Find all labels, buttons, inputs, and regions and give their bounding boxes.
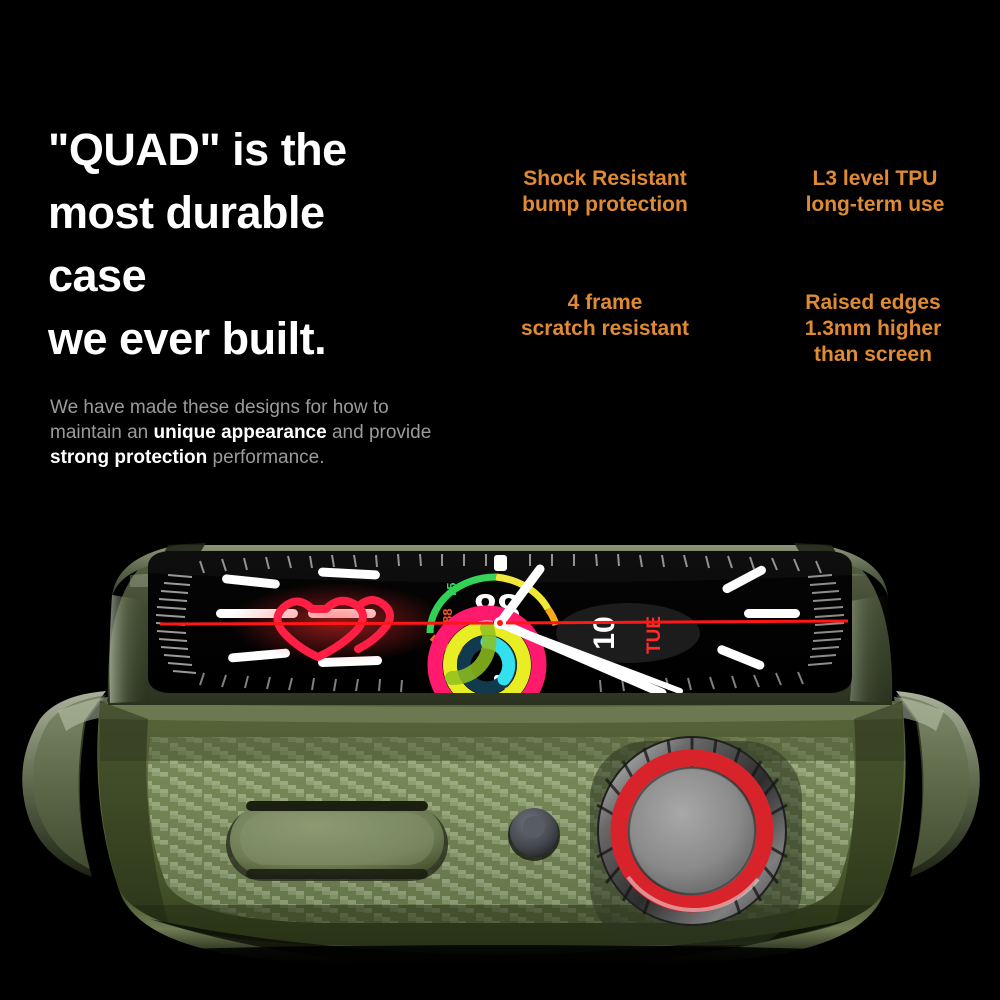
feature-line: Shock Resistant: [475, 166, 735, 192]
side-button[interactable]: [226, 801, 448, 881]
subtitle-highlight-1: unique appearance: [154, 422, 327, 443]
feature-line: long-term use: [750, 192, 1000, 218]
headline-line-4: we ever built.: [48, 307, 468, 370]
subtitle-text-3: performance.: [207, 447, 324, 468]
product-marketing-image: "QUAD" is the most durable case we ever …: [0, 0, 1000, 1000]
feature-label-scratch-resistant: 4 frame scratch resistant: [475, 290, 735, 342]
feature-line: than screen: [748, 342, 998, 368]
headline-line-2: most durable: [48, 181, 468, 244]
watch-screen: 88 75 88 10: [148, 551, 852, 717]
subtitle-text-2: and provide: [327, 422, 432, 443]
feature-line: 4 frame: [475, 290, 735, 316]
feature-line: bump protection: [475, 192, 735, 218]
headline-line-1: "QUAD" is the: [48, 118, 468, 181]
subtitle-highlight-2: strong protection: [50, 447, 207, 468]
feature-label-shock-resistant: Shock Resistant bump protection: [475, 166, 735, 218]
case-left-lug: [22, 691, 108, 877]
feature-line: 1.3mm higher: [748, 316, 998, 342]
feature-line: Raised edges: [748, 290, 998, 316]
headline-line-3: case: [48, 244, 468, 307]
svg-text:75: 75: [444, 583, 459, 597]
feature-label-l3-tpu: L3 level TPU long-term use: [750, 166, 1000, 218]
digital-crown[interactable]: [590, 736, 802, 945]
feature-label-raised-edges: Raised edges 1.3mm higher than screen: [748, 290, 998, 368]
product-photo-smartwatch-case: 88 75 88 10: [0, 505, 1000, 965]
subtitle-paragraph: We have made these designs for how to ma…: [50, 395, 450, 470]
feature-line: scratch resistant: [475, 316, 735, 342]
page-title: "QUAD" is the most durable case we ever …: [48, 118, 468, 370]
feature-line: L3 level TPU: [750, 166, 1000, 192]
case-right-lug: [894, 691, 980, 877]
